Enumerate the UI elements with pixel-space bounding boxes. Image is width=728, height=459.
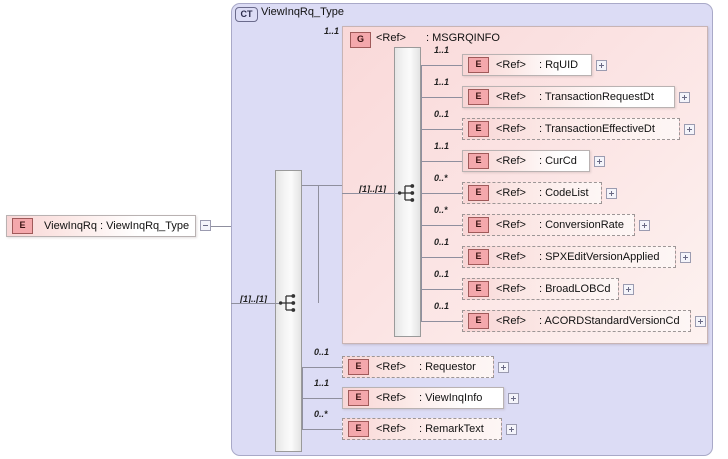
element-ref-label: <Ref> <box>496 219 526 231</box>
element-row[interactable]: E<Ref>: Requestor <box>342 356 494 378</box>
element-badge-icon: E <box>348 390 369 406</box>
expand-box[interactable] <box>506 424 517 435</box>
element-ref-label: <Ref> <box>376 392 406 404</box>
complextype-badge-icon: CT <box>235 7 258 22</box>
connector-stub <box>302 398 342 399</box>
cardinality-label: 1..1 <box>434 77 449 87</box>
expand-box[interactable] <box>680 252 691 263</box>
cardinality-label: 0..1 <box>434 109 449 119</box>
group-badge-icon: G <box>350 32 371 48</box>
element-name-label: : ViewInqInfo <box>419 392 482 404</box>
schema-diagram-canvas: E ViewInqRq : ViewInqRq_Type CT ViewInqR… <box>0 0 728 459</box>
element-badge-icon: E <box>468 217 489 233</box>
expand-box[interactable] <box>679 92 690 103</box>
element-badge-icon: E <box>468 185 489 201</box>
cardinality-label: 1..1 <box>434 141 449 151</box>
connector-stub <box>421 289 462 290</box>
connector-outer-seq-to-group <box>302 185 342 186</box>
collapse-box-root[interactable] <box>200 220 211 231</box>
element-badge-icon: E <box>468 281 489 297</box>
connector-stub <box>421 129 462 130</box>
group-ref-label: <Ref> <box>376 32 406 44</box>
element-name-label: : TransactionEffectiveDt <box>539 123 655 135</box>
element-badge-icon: E <box>12 218 33 234</box>
element-ref-label: <Ref> <box>496 283 526 295</box>
cardinality-label: 0..* <box>434 173 448 183</box>
expand-box[interactable] <box>508 393 519 404</box>
cardinality-label: 1..1 <box>434 45 449 55</box>
cardinality-label: 0..* <box>434 205 448 215</box>
element-name-label: : CodeList <box>539 187 589 199</box>
expand-box[interactable] <box>594 156 605 167</box>
element-ref-label: <Ref> <box>496 123 526 135</box>
element-name-label: : CurCd <box>539 155 577 167</box>
connector-stub <box>421 161 462 162</box>
element-ref-label: <Ref> <box>496 251 526 263</box>
cardinality-label: 0..1 <box>434 301 449 311</box>
element-name-label: : Requestor <box>419 361 476 373</box>
outer-sequence-icon <box>279 293 301 313</box>
element-badge-icon: E <box>468 57 489 73</box>
element-badge-icon: E <box>348 359 369 375</box>
element-name-label: : RemarkText <box>419 423 484 435</box>
cardinality-label: 0..1 <box>314 347 329 357</box>
connector-stub <box>302 429 342 430</box>
connector-stub <box>421 65 462 66</box>
element-name-label: : ACORDStandardVersionCd <box>539 315 680 327</box>
expand-box[interactable] <box>684 124 695 135</box>
connector-stub <box>302 367 342 368</box>
element-badge-icon: E <box>468 89 489 105</box>
element-name-label: : SPXEditVersionApplied <box>539 251 659 263</box>
element-ref-label: <Ref> <box>496 315 526 327</box>
element-ref-label: <Ref> <box>376 361 406 373</box>
connector-outer-seq-trunk-up <box>318 185 319 303</box>
connector-stub <box>421 97 462 98</box>
element-badge-icon: E <box>348 421 369 437</box>
element-row[interactable]: E<Ref>: SPXEditVersionApplied <box>462 246 676 268</box>
root-element-label: ViewInqRq : ViewInqRq_Type <box>44 220 189 232</box>
element-row[interactable]: E<Ref>: CodeList <box>462 182 602 204</box>
group-cardinality: 1..1 <box>324 26 339 36</box>
group-name-label: : MSGRQINFO <box>426 32 500 44</box>
element-ref-label: <Ref> <box>376 423 406 435</box>
element-badge-icon: E <box>468 153 489 169</box>
element-row[interactable]: E<Ref>: RqUID <box>462 54 592 76</box>
connector-stub <box>421 321 462 322</box>
element-ref-label: <Ref> <box>496 187 526 199</box>
element-ref-label: <Ref> <box>496 59 526 71</box>
cardinality-label: 0..1 <box>434 269 449 279</box>
element-name-label: : BroadLOBCd <box>539 283 611 295</box>
element-name-label: : ConversionRate <box>539 219 624 231</box>
element-ref-label: <Ref> <box>496 155 526 167</box>
element-row[interactable]: E<Ref>: ConversionRate <box>462 214 635 236</box>
root-element-viewinqrq[interactable]: E ViewInqRq : ViewInqRq_Type <box>6 215 196 237</box>
element-row[interactable]: E<Ref>: TransactionEffectiveDt <box>462 118 680 140</box>
element-row[interactable]: E<Ref>: ViewInqInfo <box>342 387 504 409</box>
complextype-title: ViewInqRq_Type <box>261 6 344 18</box>
connector-stub <box>421 225 462 226</box>
element-name-label: : RqUID <box>539 59 578 71</box>
element-row[interactable]: E<Ref>: CurCd <box>462 150 590 172</box>
connector-trunk <box>421 65 422 321</box>
element-row[interactable]: E<Ref>: TransactionRequestDt <box>462 86 675 108</box>
expand-box[interactable] <box>695 316 706 327</box>
element-badge-icon: E <box>468 249 489 265</box>
expand-box[interactable] <box>596 60 607 71</box>
cardinality-label: 0..* <box>314 409 328 419</box>
connector-trunk <box>302 367 303 429</box>
cardinality-label: 1..1 <box>314 378 329 388</box>
element-ref-label: <Ref> <box>496 91 526 103</box>
cardinality-label: 0..1 <box>434 237 449 247</box>
element-badge-icon: E <box>468 121 489 137</box>
element-name-label: : TransactionRequestDt <box>539 91 654 103</box>
connector-type-to-outer-sequence <box>231 303 279 304</box>
element-row[interactable]: E<Ref>: RemarkText <box>342 418 502 440</box>
expand-box[interactable] <box>498 362 509 373</box>
connector-root-to-type <box>211 226 231 227</box>
group-sequence-icon <box>398 183 420 203</box>
connector-group-to-sequence <box>342 193 398 194</box>
expand-box[interactable] <box>606 188 617 199</box>
connector-stub <box>421 257 462 258</box>
expand-box[interactable] <box>623 284 634 295</box>
element-badge-icon: E <box>468 313 489 329</box>
element-row[interactable]: E<Ref>: ACORDStandardVersionCd <box>462 310 691 332</box>
element-row[interactable]: E<Ref>: BroadLOBCd <box>462 278 619 300</box>
expand-box[interactable] <box>639 220 650 231</box>
connector-stub <box>421 193 462 194</box>
